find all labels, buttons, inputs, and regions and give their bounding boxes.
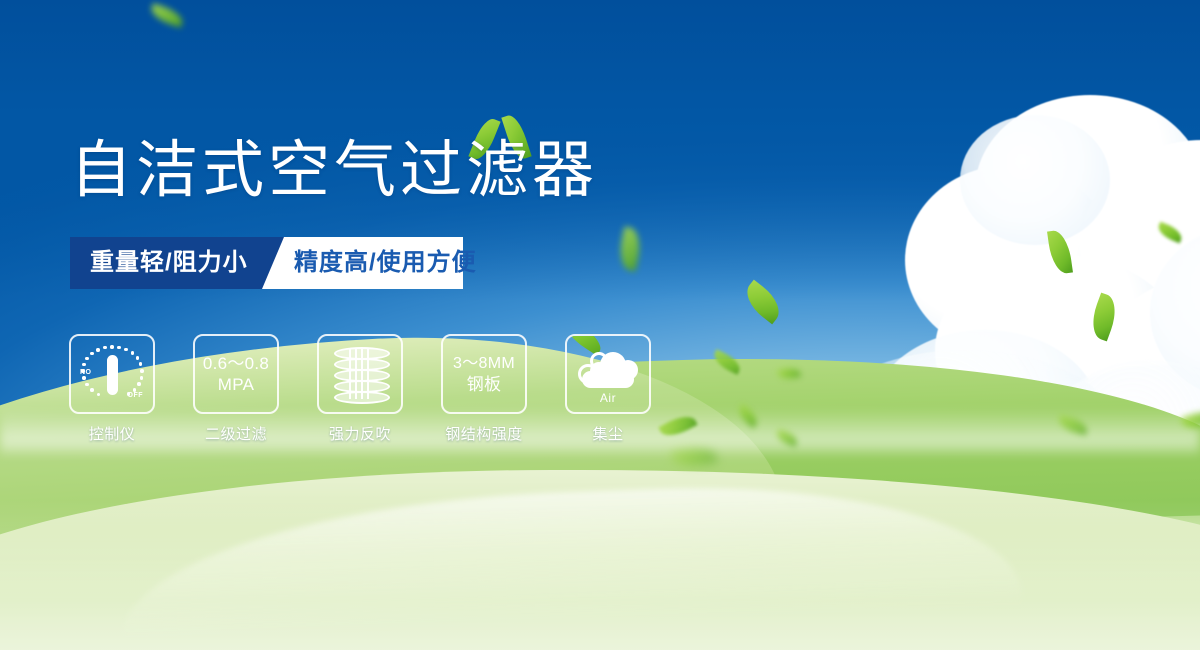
feature-list: NO OFF 控制仪 0.6～0.8 MPA 二级过滤 (70, 334, 650, 444)
gauge-label-no: NO (80, 369, 92, 376)
feature-label: 钢结构强度 (445, 423, 523, 444)
feature-box: 0.6～0.8 MPA (193, 334, 279, 414)
feature-item-steel-strength[interactable]: 3～8MM 钢板 钢结构强度 (442, 334, 526, 444)
pressure-value-text: 0.6～0.8 (203, 353, 269, 374)
feature-label: 集尘 (592, 423, 623, 444)
gauge-label-off: OFF (128, 392, 144, 399)
product-banner: 自洁式空气过滤器 重量轻/阻力小 精度高/使用方便 (0, 0, 1200, 650)
air-label: Air (576, 391, 640, 405)
feature-label: 控制仪 (89, 423, 136, 444)
subtitle-text-right: 精度高/使用方便 (294, 237, 477, 289)
steel-thickness-text: 3～8MM (453, 353, 515, 374)
feature-label: 强力反吹 (329, 423, 391, 444)
filter-stack-icon (331, 345, 389, 403)
feature-box: 3～8MM 钢板 (441, 334, 527, 414)
air-cloud-icon: Air (576, 346, 640, 402)
feature-item-dust-collection[interactable]: Air 集尘 (566, 334, 650, 444)
feature-item-strong-backblow[interactable]: 强力反吹 (318, 334, 402, 444)
subtitle-bar: 重量轻/阻力小 精度高/使用方便 (70, 237, 463, 289)
feature-box: NO OFF (69, 334, 155, 414)
feature-label: 二级过滤 (205, 423, 267, 444)
feature-box: Air (565, 334, 651, 414)
feature-item-secondary-filter[interactable]: 0.6～0.8 MPA 二级过滤 (194, 334, 278, 444)
gauge-needle (107, 355, 118, 395)
feature-box (317, 334, 403, 414)
pressure-unit-text: MPA (218, 374, 254, 395)
steel-plate-text: 钢板 (467, 374, 502, 395)
subtitle-text-left: 重量轻/阻力小 (90, 237, 248, 289)
feature-item-control-gauge[interactable]: NO OFF 控制仪 (70, 334, 154, 444)
page-title: 自洁式空气过滤器 (70, 140, 598, 202)
gauge-icon: NO OFF (81, 344, 143, 404)
